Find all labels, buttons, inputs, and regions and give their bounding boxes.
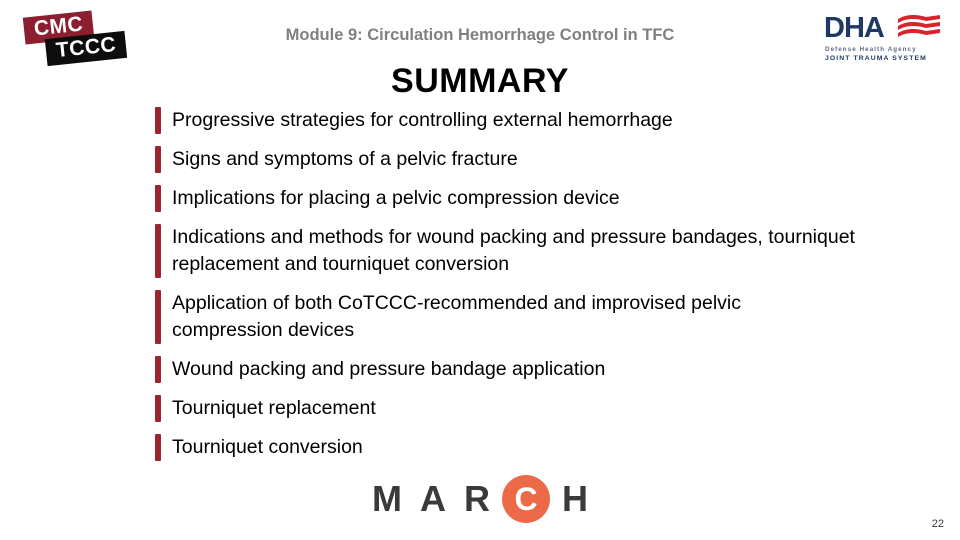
list-item-label: Tourniquet replacement	[172, 395, 855, 422]
march-letter-a: A	[420, 475, 446, 523]
list-item-label: Signs and symptoms of a pelvic fracture	[172, 146, 855, 173]
march-letter-h: H	[562, 475, 588, 523]
list-item: Signs and symptoms of a pelvic fracture	[155, 146, 855, 173]
list-item-label: Wound packing and pressure bandage appli…	[172, 356, 855, 383]
dha-logo-main: DHA ★	[824, 12, 942, 46]
list-item: Wound packing and pressure bandage appli…	[155, 356, 855, 383]
bullet-marker-icon	[155, 185, 161, 212]
bullet-marker-icon	[155, 224, 161, 278]
list-item-label: Implications for placing a pelvic compre…	[172, 185, 855, 212]
bullet-marker-icon	[155, 356, 161, 383]
slide-canvas: CMC TCCC Module 9: Circulation Hemorrhag…	[0, 0, 960, 540]
page-number: 22	[932, 518, 944, 530]
march-letter-m: M	[372, 475, 402, 523]
list-item: Implications for placing a pelvic compre…	[155, 185, 855, 212]
bullet-marker-icon	[155, 146, 161, 173]
list-item-label: Indications and methods for wound packin…	[172, 224, 855, 278]
list-item: Indications and methods for wound packin…	[155, 224, 855, 278]
star-icon: ★	[881, 26, 892, 38]
list-item: Tourniquet conversion	[155, 434, 855, 461]
page-title: SUMMARY	[0, 62, 960, 101]
list-item-label: Tourniquet conversion	[172, 434, 855, 461]
flag-stripes-icon	[896, 13, 942, 43]
dha-wordmark: DHA	[824, 12, 884, 44]
dha-subtitle-system: JOINT TRAUMA SYSTEM	[825, 55, 927, 62]
list-item-label: Application of both CoTCCC-recommended a…	[172, 290, 855, 344]
list-item: Application of both CoTCCC-recommended a…	[155, 290, 855, 344]
dha-logo: DHA ★ Defense Health Agency JOINT TRAUMA…	[824, 12, 942, 68]
bullet-marker-icon	[155, 107, 161, 134]
module-title: Module 9: Circulation Hemorrhage Control…	[0, 26, 960, 45]
bullet-marker-icon	[155, 290, 161, 344]
bullet-marker-icon	[155, 434, 161, 461]
bullet-marker-icon	[155, 395, 161, 422]
march-letter-r: R	[464, 475, 490, 523]
list-item: Progressive strategies for controlling e…	[155, 107, 855, 134]
summary-bullet-list: Progressive strategies for controlling e…	[155, 107, 855, 473]
march-letter-c-circle: C	[502, 475, 550, 523]
march-logo: M A R C H	[0, 474, 960, 524]
list-item-label: Progressive strategies for controlling e…	[172, 107, 855, 134]
dha-subtitle-agency: Defense Health Agency	[825, 46, 917, 53]
list-item: Tourniquet replacement	[155, 395, 855, 422]
